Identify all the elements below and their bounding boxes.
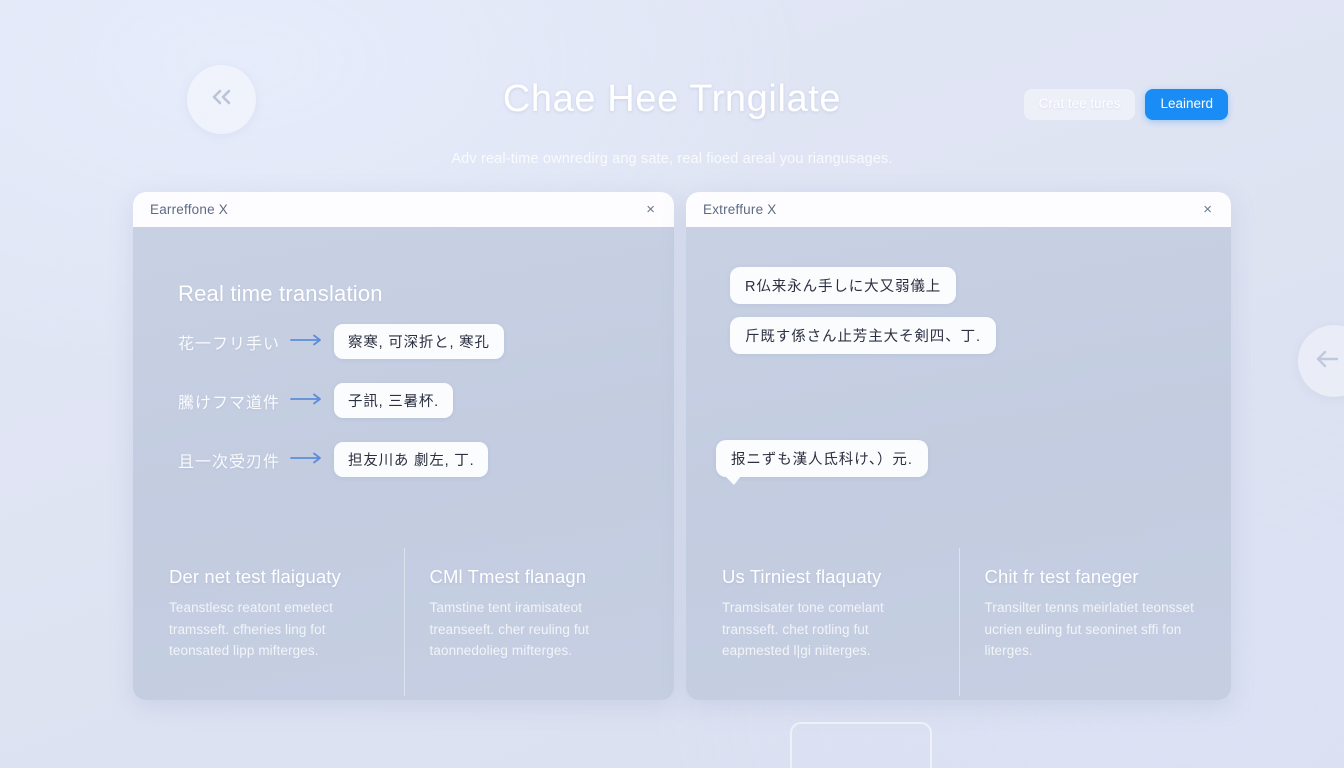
feature-strip-left: Der net test flaiguaty Teanstlesc reaton… <box>133 566 674 662</box>
panel-body-left: Real time translation 花一フリ手い 察寒, 可深折と, 寒… <box>133 227 674 700</box>
chat-bubble: 报ニずも漢人氐科け、）元. <box>716 440 928 477</box>
arrow-right-icon <box>290 451 324 469</box>
feature-item: CMl Tmest flanagn Tamstine tent iramisat… <box>404 566 665 662</box>
feature-description: Tamstine tent iramisateot treanseeft. ch… <box>430 597 639 662</box>
translation-output: 担友川あ 劇左, 丁. <box>334 442 488 477</box>
feature-description: Tramsisater tone comelant transseft. che… <box>722 597 933 662</box>
chat-panel: Extreffure X × R仏来永ん手しに大又弱儀上 斤既す係さん止芳主大そ… <box>686 192 1231 700</box>
features-button[interactable]: Crat tee tures <box>1024 89 1136 120</box>
dock-outline <box>790 722 932 768</box>
translation-source: 騰けフマ道件 <box>178 389 280 413</box>
arrow-right-icon <box>290 392 324 410</box>
arrow-left-icon <box>1327 348 1341 375</box>
panel-tabbar-left: Earreffone X × <box>133 192 674 227</box>
feature-description: Teanstlesc reatont emetect tramsseft. cf… <box>169 597 378 662</box>
panel-heading: Real time translation <box>178 281 383 307</box>
translation-list: 花一フリ手い 察寒, 可深折と, 寒孔 騰けフマ道件 子訊 <box>178 324 504 477</box>
feature-title: Us Tirniest flaquaty <box>722 566 933 588</box>
translation-source: 且一次受刃件 <box>178 448 280 472</box>
chat-message-list: R仏来永ん手しに大又弱儀上 斤既す係さん止芳主大そ剣四、丁. 报ニずも漢人氐科け… <box>730 267 996 477</box>
panel-body-right: R仏来永ん手しに大又弱儀上 斤既す係さん止芳主大そ剣四、丁. 报ニずも漢人氐科け… <box>686 227 1231 700</box>
feature-item: Chit fr test faneger Transilter tenns me… <box>959 566 1222 662</box>
feature-strip-right: Us Tirniest flaquaty Tramsisater tone co… <box>686 566 1231 662</box>
translation-row: 且一次受刃件 担友川あ 劇左, 丁. <box>178 442 504 477</box>
feature-item: Us Tirniest flaquaty Tramsisater tone co… <box>696 566 959 662</box>
translation-source: 花一フリ手い <box>178 330 280 354</box>
next-panel-button[interactable] <box>1298 325 1344 397</box>
learn-more-button[interactable]: Leainerd <box>1145 89 1228 120</box>
translation-row: 騰けフマ道件 子訊, 三暑杯. <box>178 383 504 418</box>
feature-title: Der net test flaiguaty <box>169 566 378 588</box>
tab-label-right[interactable]: Extreffure X <box>703 202 776 217</box>
header-actions: Crat tee tures Leainerd <box>1024 89 1228 120</box>
feature-title: CMl Tmest flanagn <box>430 566 639 588</box>
panel-tabbar-right: Extreffure X × <box>686 192 1231 227</box>
page-subtitle: Adv real-time ownredirg ang sate, real f… <box>0 151 1344 167</box>
tab-label-left[interactable]: Earreffone X <box>150 202 228 217</box>
arrow-right-icon <box>290 333 324 351</box>
close-icon[interactable]: × <box>1200 200 1215 219</box>
feature-item: Der net test flaiguaty Teanstlesc reaton… <box>143 566 404 662</box>
close-icon[interactable]: × <box>643 200 658 219</box>
feature-title: Chit fr test faneger <box>985 566 1196 588</box>
translation-output: 察寒, 可深折と, 寒孔 <box>334 324 504 359</box>
page-header: Chae Hee Trngilate Adv real-time ownredi… <box>0 0 1344 185</box>
chat-bubble: R仏来永ん手しに大又弱儀上 <box>730 267 956 304</box>
chat-bubble: 斤既す係さん止芳主大そ剣四、丁. <box>730 317 996 354</box>
feature-description: Transilter tenns meirlatiet teonsset ucr… <box>985 597 1196 662</box>
translation-panel: Earreffone X × Real time translation 花一フ… <box>133 192 674 700</box>
translation-row: 花一フリ手い 察寒, 可深折と, 寒孔 <box>178 324 504 359</box>
translation-output: 子訊, 三暑杯. <box>334 383 453 418</box>
